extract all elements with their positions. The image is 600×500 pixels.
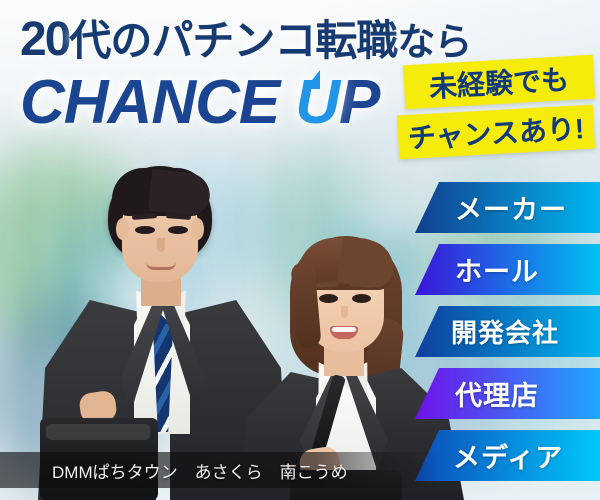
credit-text: DMMぱちタウン あさくら 南こうめ bbox=[52, 458, 348, 483]
recruitment-banner[interactable]: 20代のパチンコ転職なら CHANCEUP 未経験でも チャンスあり! メーカー… bbox=[0, 0, 600, 500]
tag-maker[interactable]: メーカー bbox=[415, 182, 600, 233]
tag-development-company[interactable]: 開発会社 bbox=[415, 306, 600, 357]
credit-bar: DMMぱちタウン あさくら 南こうめ bbox=[0, 452, 440, 488]
category-tag-list: メーカー ホール 開発会社 代理店 メディア bbox=[0, 0, 600, 500]
tag-hall[interactable]: ホール bbox=[415, 244, 600, 295]
tag-agency[interactable]: 代理店 bbox=[415, 368, 600, 419]
tag-agency-label: 代理店 bbox=[455, 374, 539, 413]
tag-media[interactable]: メディア bbox=[415, 430, 600, 481]
tag-media-label: メディア bbox=[453, 436, 563, 475]
tag-development-company-label: 開発会社 bbox=[451, 313, 559, 350]
tag-maker-label: メーカー bbox=[455, 188, 567, 227]
tag-hall-label: ホール bbox=[455, 250, 539, 289]
